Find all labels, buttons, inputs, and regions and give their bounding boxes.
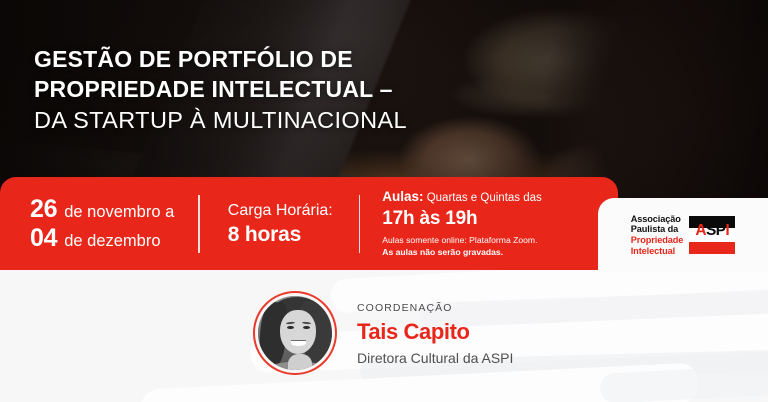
workload-label: Carga Horária: xyxy=(228,200,333,222)
avatar-ring xyxy=(253,291,337,375)
aspi-logo-wordmark: Associação Paulista da Propriedade Intel… xyxy=(631,214,684,256)
aspi-logo-icon: ASPI xyxy=(689,216,735,254)
date-end-month: de dezembro xyxy=(64,232,160,251)
logo-acronym: ASPI xyxy=(689,223,735,238)
date-start-day: 26 xyxy=(30,195,57,224)
logo-word-line-2: Paulista da xyxy=(631,224,684,235)
logo-bar-bottom xyxy=(689,242,735,254)
classes-label: Aulas: xyxy=(382,189,423,204)
event-title: GESTÃO DE PORTFÓLIO DE PROPRIEDADE INTEL… xyxy=(34,44,594,136)
coordinator-name: Tais Capito xyxy=(357,317,513,347)
classes-note-2: As aulas não serão gravadas. xyxy=(382,246,542,258)
coordination-label: COORDENAÇÃO xyxy=(357,301,513,316)
classes-days: Quartas e Quintas das xyxy=(427,192,542,204)
info-dates: 26 de novembro a 04 de dezembro xyxy=(0,195,198,253)
logo-acronym-i: I xyxy=(725,222,729,239)
avatar-hand xyxy=(288,354,312,370)
coordinator-role: Diretora Cultural da ASPI xyxy=(357,348,513,368)
title-line-1: GESTÃO DE PORTFÓLIO DE xyxy=(34,44,594,74)
avatar xyxy=(258,296,332,370)
classes-header: Aulas: Quartas e Quintas das xyxy=(382,189,542,206)
date-end-day: 04 xyxy=(30,224,57,253)
classes-time: 17h às 19h xyxy=(382,207,542,231)
info-workload: Carga Horária: 8 horas xyxy=(200,200,359,248)
coordination-section: COORDENAÇÃO Tais Capito Diretora Cultura… xyxy=(0,270,768,402)
title-line-2: PROPRIEDADE INTELECTUAL – xyxy=(34,74,594,104)
aspi-logo-panel: Associação Paulista da Propriedade Intel… xyxy=(598,198,768,272)
event-banner: GESTÃO DE PORTFÓLIO DE PROPRIEDADE INTEL… xyxy=(0,0,768,402)
avatar-mouth xyxy=(291,340,306,346)
info-bar: 26 de novembro a 04 de dezembro Carga Ho… xyxy=(0,177,618,270)
avatar-face xyxy=(280,310,316,354)
info-classes: Aulas: Quartas e Quintas das 17h às 19h … xyxy=(360,189,558,258)
logo-word-line-4: Intelectual xyxy=(631,246,684,257)
workload-value: 8 horas xyxy=(228,222,333,248)
logo-word-line-1: Associação xyxy=(631,214,684,225)
title-line-3: DA STARTUP À MULTINACIONAL xyxy=(34,104,594,136)
date-start-row: 26 de novembro a xyxy=(30,195,174,224)
classes-note-1: Aulas somente online: Plataforma Zoom. xyxy=(382,234,542,246)
date-start-month: de novembro a xyxy=(64,203,174,222)
logo-acronym-a: A xyxy=(695,222,706,239)
logo-acronym-sp: SP xyxy=(706,222,725,239)
coordinator-text: COORDENAÇÃO Tais Capito Diretora Cultura… xyxy=(357,299,513,368)
coordinator-block: COORDENAÇÃO Tais Capito Diretora Cultura… xyxy=(253,291,513,375)
date-end-row: 04 de dezembro xyxy=(30,224,174,253)
logo-word-line-3: Propriedade xyxy=(631,235,684,246)
